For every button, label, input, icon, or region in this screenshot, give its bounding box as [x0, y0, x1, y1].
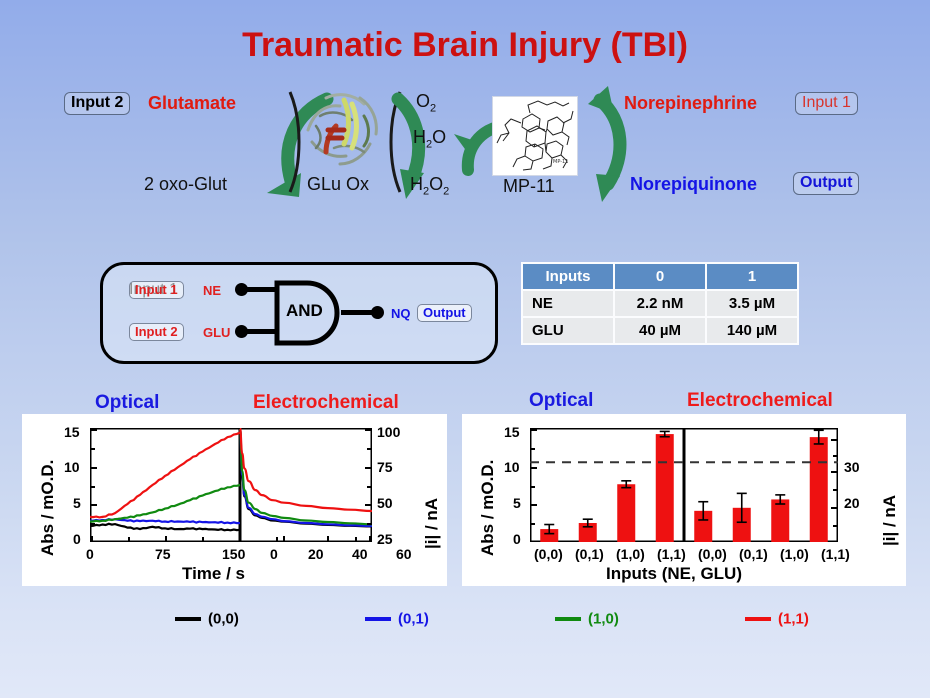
scheme-norepinephrine-label: Norepinephrine: [624, 93, 757, 114]
legend-item-00: (0,0): [175, 610, 239, 628]
table-row: GLU 40 µM 140 µM: [522, 317, 798, 344]
bars-xtick-6: (1,0): [780, 546, 809, 562]
bars-y2tick-20: 20: [844, 495, 860, 511]
bars-ytick-15: 15: [504, 424, 520, 440]
o2-subscript: 2: [430, 103, 436, 115]
reaction-scheme: Input 2 Glutamate 2 oxo-Glut GLu Ox: [0, 80, 930, 220]
kinetics-ylabel: Abs / mO.D.: [38, 460, 58, 556]
bars-xtick-3: (1,1): [657, 546, 686, 562]
bars-y2label: |i| / nA: [880, 495, 900, 546]
bars-xtick-0: (0,0): [534, 546, 563, 562]
table-cell-ne-1: 3.5 µM: [706, 290, 798, 317]
kinetics-chart-panel: Abs / mO.D. |i| / nA 15 10 5 0 100 75 50…: [22, 414, 447, 586]
scheme-input1-tag: Input 1: [795, 92, 858, 115]
scheme-norepiquinone-label: Norepiquinone: [630, 174, 757, 195]
mp11-structure-image: MP-11: [492, 96, 578, 176]
scheme-h2o2-label: H2O2: [410, 174, 449, 198]
kinetics-xtick-ec-0: 0: [270, 546, 278, 562]
kinetics-xtick-ec-40: 40: [352, 546, 368, 562]
legend-item-10: (1,0): [555, 610, 619, 628]
legend-swatch-01: [365, 617, 391, 621]
table-header-one: 1: [706, 263, 798, 290]
glutamate-oxidase-structure-icon: [300, 86, 386, 174]
scheme-h2o-label: H2O: [413, 127, 446, 151]
bars-xtick-4: (0,0): [698, 546, 727, 562]
bars-xtick-1: (0,1): [575, 546, 604, 562]
kinetics-xtick-75: 75: [155, 546, 171, 562]
h2o-text: H: [413, 127, 426, 147]
logic-gate-panel: Input 1 Input 1 NE Input 2 GLU AND NQ Ou…: [100, 262, 498, 364]
kinetics-xlabel: Time / s: [182, 564, 245, 584]
gate-input2-tag: Input 2: [129, 323, 184, 341]
kinetics-ytick-0: 0: [73, 531, 81, 547]
chart-legend: (0,0) (0,1) (1,0) (1,1): [0, 610, 930, 638]
and-gate-text: AND: [286, 301, 323, 321]
bars-plot: [530, 428, 838, 542]
legend-label-11: (1,1): [778, 610, 809, 627]
table-header-zero: 0: [614, 263, 706, 290]
scheme-mediator-label: MP-11: [503, 176, 555, 197]
h2o2-mid: O: [429, 174, 443, 194]
scheme-oxoglut-label: 2 oxo-Glut: [144, 174, 227, 195]
kinetics-y2tick-50: 50: [377, 495, 393, 511]
o2-text: O: [416, 91, 430, 111]
bars-y2tick-30: 30: [844, 459, 860, 475]
legend-label-00: (0,0): [208, 610, 239, 627]
kinetics-xtick-0: 0: [86, 546, 94, 562]
legend-swatch-11: [745, 617, 771, 621]
right-chart-optical-header: Optical: [529, 390, 593, 412]
table-row-name-glu: GLU: [522, 317, 614, 344]
legend-label-10: (1,0): [588, 610, 619, 627]
legend-item-01: (0,1): [365, 610, 429, 628]
scheme-input2-tag: Input 2: [64, 92, 130, 115]
kinetics-y2label: |i| / nA: [422, 498, 442, 549]
endpoint-bar-chart-panel: Abs / mO.D. |i| / nA 15 10 5 0 30 20 (0,…: [462, 414, 906, 586]
page-title: Traumatic Brain Injury (TBI): [0, 26, 930, 65]
gate-output-node: [371, 306, 384, 319]
bars-ytick-5: 5: [513, 495, 521, 511]
kinetics-y2tick-100: 100: [377, 424, 400, 440]
legend-swatch-10: [555, 617, 581, 621]
kinetics-ytick-5: 5: [73, 495, 81, 511]
h2o2-text: H: [410, 174, 423, 194]
bars-ytick-10: 10: [504, 459, 520, 475]
kinetics-plot: [90, 428, 372, 542]
legend-swatch-00: [175, 617, 201, 621]
left-chart-optical-header: Optical: [95, 392, 159, 414]
kinetics-xtick-ec-60: 60: [396, 546, 412, 562]
table-header-row: Inputs 0 1: [522, 263, 798, 290]
legend-label-01: (0,1): [398, 610, 429, 627]
gate-input1-label: NE: [203, 283, 221, 298]
input-concentration-table: Inputs 0 1 NE 2.2 nM 3.5 µM GLU 40 µM 14…: [521, 262, 799, 345]
kinetics-y2tick-75: 75: [377, 459, 393, 475]
left-chart-electrochemical-header: Electrochemical: [253, 392, 399, 414]
bars-xtick-2: (1,0): [616, 546, 645, 562]
h2o-tail: O: [432, 127, 446, 147]
table-cell-glu-0: 40 µM: [614, 317, 706, 344]
gate-input1-tag: Input 1: [129, 281, 184, 299]
table-row: NE 2.2 nM 3.5 µM: [522, 290, 798, 317]
table-cell-ne-0: 2.2 nM: [614, 290, 706, 317]
h2o2-subscript-2: 2: [443, 186, 449, 198]
bars-ytick-0: 0: [513, 531, 521, 547]
bars-xlabel: Inputs (NE, GLU): [606, 564, 742, 584]
kinetics-xtick-ec-20: 20: [308, 546, 324, 562]
bars-xtick-7: (1,1): [821, 546, 850, 562]
legend-item-11: (1,1): [745, 610, 809, 628]
table-cell-glu-1: 140 µM: [706, 317, 798, 344]
svg-text:MP-11: MP-11: [553, 159, 568, 165]
scheme-glutamate-label: Glutamate: [148, 93, 236, 114]
right-chart-electrochemical-header: Electrochemical: [687, 390, 833, 412]
kinetics-xtick-150: 150: [222, 546, 245, 562]
table-header-inputs: Inputs: [522, 263, 614, 290]
kinetics-ytick-15: 15: [64, 424, 80, 440]
gate-output-tag: Output: [417, 304, 472, 322]
bars-xtick-5: (0,1): [739, 546, 768, 562]
scheme-enzyme-label: GLu Ox: [307, 174, 369, 195]
scheme-output-tag: Output: [793, 172, 859, 195]
bars-ylabel: Abs / mO.D.: [478, 460, 498, 556]
kinetics-y2tick-25: 25: [377, 531, 393, 547]
kinetics-ytick-10: 10: [64, 459, 80, 475]
table-row-name-ne: NE: [522, 290, 614, 317]
scheme-o2-label: O2: [416, 91, 436, 115]
gate-input2-label: GLU: [203, 325, 230, 340]
gate-output-label: NQ: [391, 306, 411, 321]
